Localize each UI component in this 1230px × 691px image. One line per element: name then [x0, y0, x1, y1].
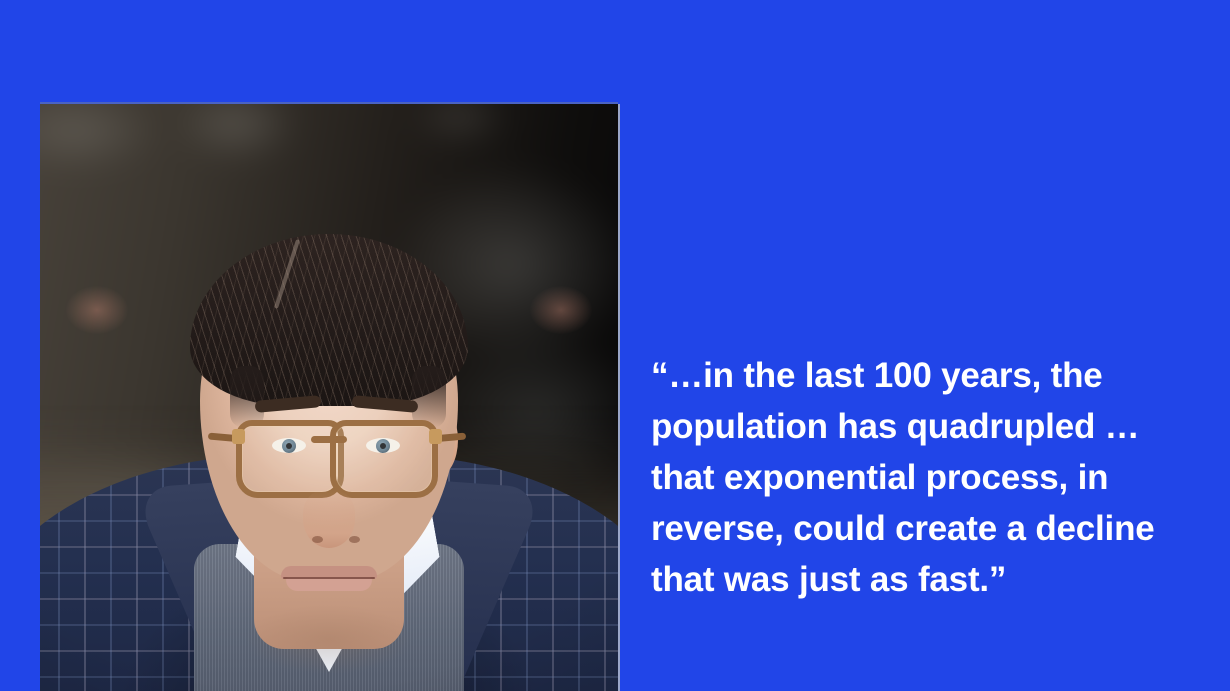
quote-line-1: “…in the last 100 years, the: [651, 350, 1176, 401]
quote-line-2: population has quadrupled …: [651, 401, 1176, 452]
hair-part: [273, 239, 299, 309]
nose: [303, 490, 355, 548]
portrait-photo: [40, 104, 618, 691]
quote-line-4: reverse, could create a decline: [651, 503, 1176, 554]
portrait-photo-canvas: [40, 104, 618, 691]
lip-line: [283, 577, 375, 579]
sideburn-left: [230, 366, 264, 428]
nostril-left: [312, 536, 323, 543]
eyeglass-lens-right: [330, 420, 438, 498]
sideburn-right: [412, 366, 446, 428]
portrait-subject: [40, 104, 618, 691]
slide: “…in the last 100 years, the population …: [0, 0, 1230, 691]
nostril-right: [349, 536, 360, 543]
eyeglass-hinge-right: [429, 429, 442, 444]
eyeglass-hinge-left: [232, 429, 245, 444]
eyeglass-lens-left: [236, 420, 344, 498]
quote-line-5: that was just as fast.”: [651, 554, 1176, 605]
chin-shadow: [244, 604, 414, 674]
quote-line-3: that exponential process, in: [651, 452, 1176, 503]
eyeglass-bridge: [311, 436, 347, 443]
mouth: [281, 566, 377, 592]
quote-text-block: “…in the last 100 years, the population …: [651, 350, 1176, 605]
cheek-right: [530, 286, 592, 334]
cheek-left: [66, 286, 128, 334]
lower-lip: [286, 577, 372, 591]
